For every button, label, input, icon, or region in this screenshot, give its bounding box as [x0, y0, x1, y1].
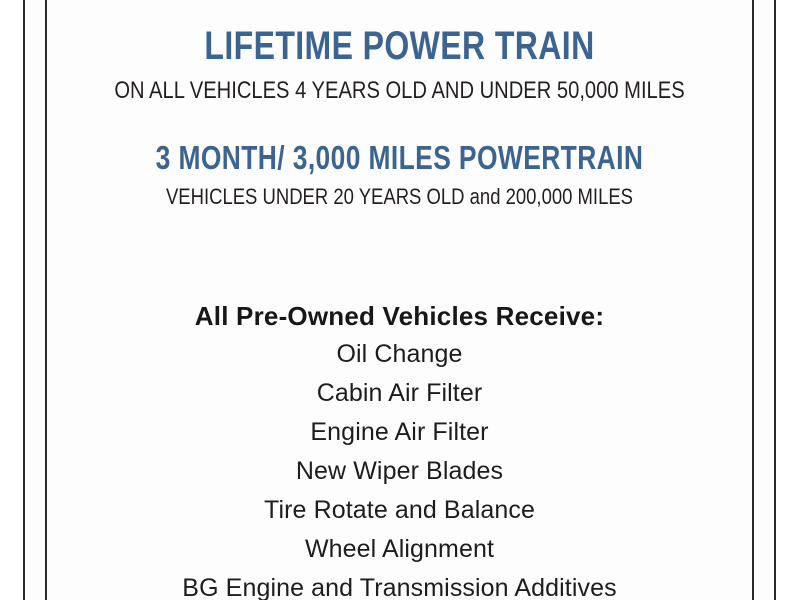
three-month-powertrain-headline: 3 MONTH/ 3,000 MILES POWERTRAIN	[118, 141, 682, 174]
service-item: Cabin Air Filter	[47, 374, 752, 413]
service-item: BG Engine and Transmission Additives	[47, 569, 752, 600]
services-list: All Pre-Owned Vehicles Receive: Oil Chan…	[47, 297, 752, 600]
three-month-powertrain-block: 3 MONTH/ 3,000 MILES POWERTRAIN VEHICLES…	[47, 141, 752, 208]
lifetime-powertrain-subline: ON ALL VEHICLES 4 YEARS OLD AND UNDER 50…	[103, 79, 695, 103]
service-item: Engine Air Filter	[47, 413, 752, 452]
right-inner-border-rule	[752, 0, 754, 600]
flyer-content: POWERTRAIN WARRANTY LIFETIME POWER TRAIN…	[47, 0, 752, 600]
right-margin	[776, 0, 800, 600]
service-item: Oil Change	[47, 335, 752, 374]
left-outer-border-rule	[23, 0, 25, 600]
faded-cropped-text: POWERTRAIN WARRANTY	[47, 2, 752, 16]
service-item: Tire Rotate and Balance	[47, 491, 752, 530]
three-month-powertrain-subline: VEHICLES UNDER 20 YEARS OLD and 200,000 …	[103, 186, 695, 208]
service-item: Wheel Alignment	[47, 530, 752, 569]
lifetime-powertrain-headline: LIFETIME POWER TRAIN	[118, 26, 682, 66]
warranty-flyer: POWERTRAIN WARRANTY LIFETIME POWER TRAIN…	[0, 0, 800, 600]
right-outer-border-rule	[774, 0, 776, 600]
lifetime-powertrain-block: LIFETIME POWER TRAIN ON ALL VEHICLES 4 Y…	[47, 26, 752, 103]
services-list-title: All Pre-Owned Vehicles Receive:	[47, 297, 752, 335]
left-margin	[0, 0, 23, 600]
service-item: New Wiper Blades	[47, 452, 752, 491]
